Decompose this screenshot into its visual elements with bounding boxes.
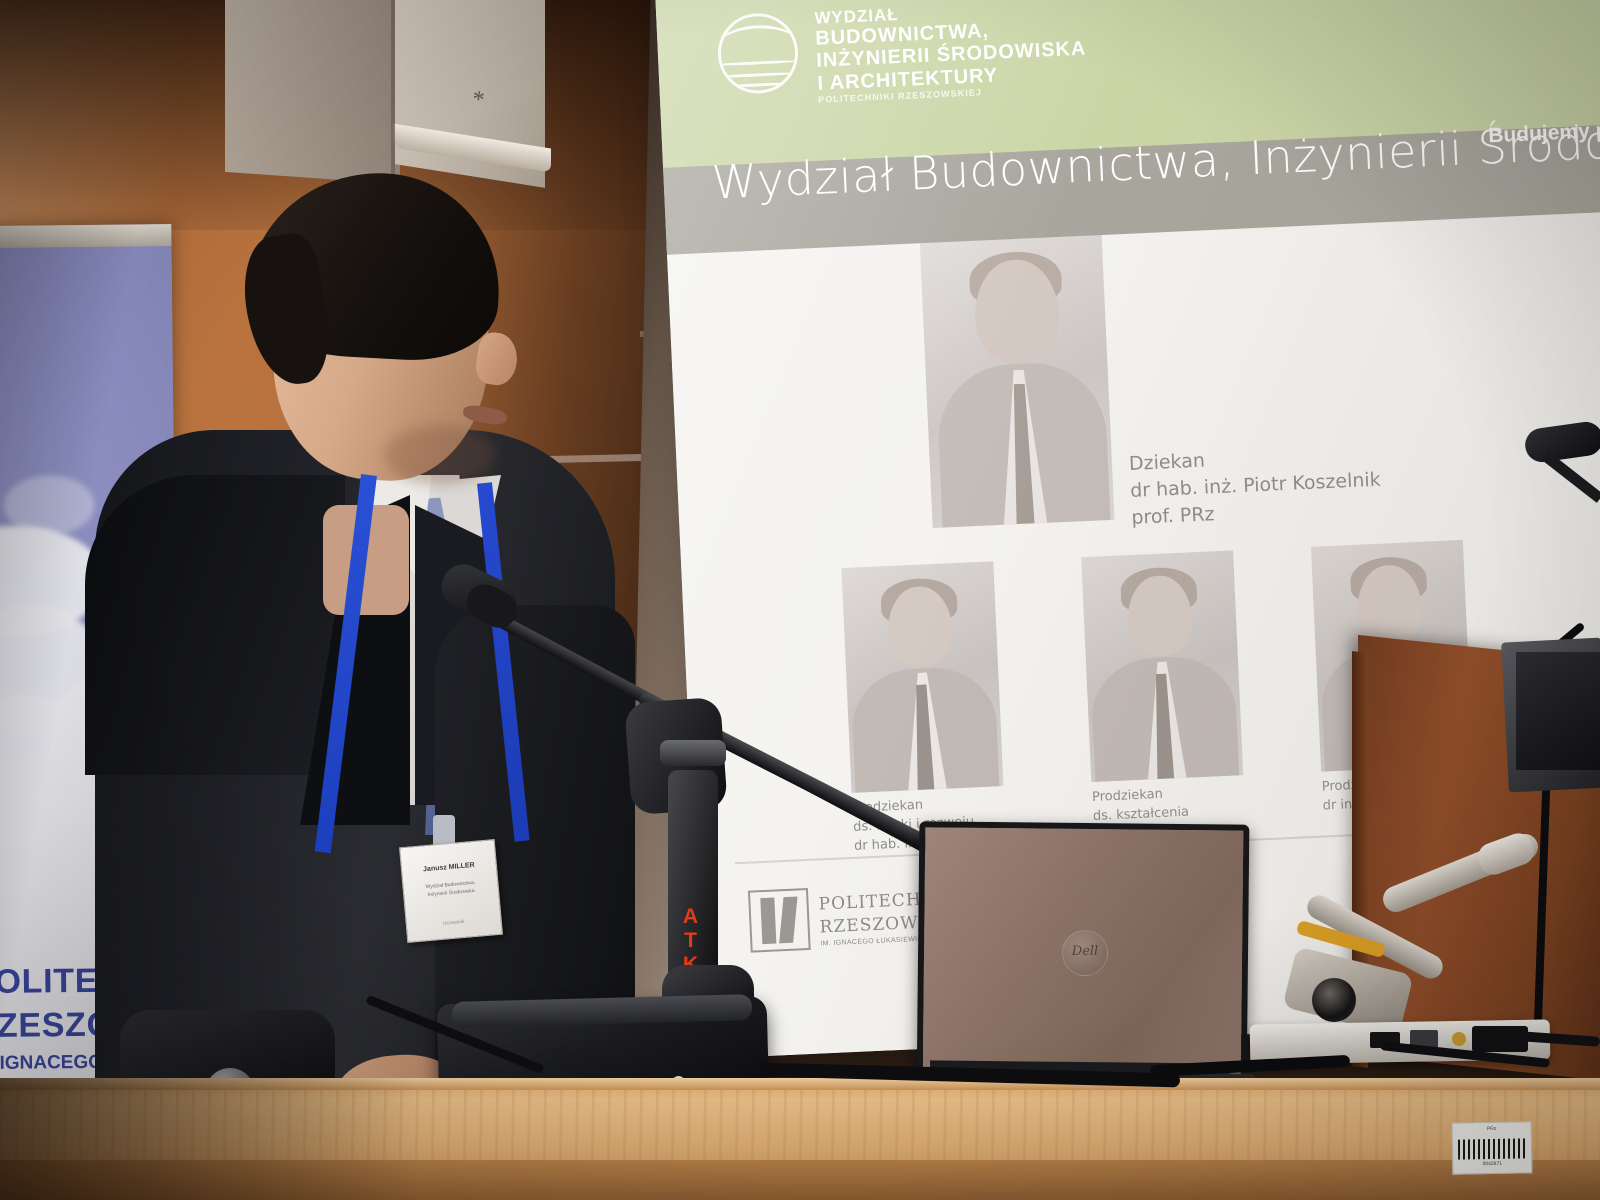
badge-name: Janusz MILLER bbox=[410, 861, 488, 875]
laptop-brand-label: Dell bbox=[1068, 944, 1102, 959]
vice-dean-1: Prodziekan ds. nauki i rozwoju dr hab. i… bbox=[841, 561, 1003, 793]
portrait-vice-dean-1 bbox=[841, 561, 1003, 793]
vice-dean-2-caption: Prodziekan ds. kształcenia bbox=[1092, 779, 1303, 826]
right-monitor-screen bbox=[1516, 652, 1600, 770]
slide-tagline: Budujemy p bbox=[1488, 119, 1600, 148]
badge-footer: Uczestnik bbox=[415, 916, 493, 929]
portrait-dean bbox=[919, 228, 1114, 528]
presenter-chin-shadow bbox=[385, 425, 495, 485]
desk-shadow-left bbox=[0, 1078, 420, 1200]
camera-lens-icon bbox=[1312, 978, 1356, 1022]
portrait-vice-dean-2 bbox=[1081, 550, 1243, 782]
inventory-barcode-sticker: PRz 0042871 bbox=[1452, 1121, 1533, 1174]
speaker-body bbox=[225, 0, 400, 184]
inventory-tag-number: 0042871 bbox=[1457, 1160, 1527, 1167]
presenter-shoulder bbox=[85, 475, 345, 775]
dean-caption: Dziekan dr hab. inż. Piotr Koszelnik pro… bbox=[1128, 440, 1382, 532]
faculty-logo-text: WYDZIAŁ BUDOWNICTWA, INŻYNIERII ŚRODOWIS… bbox=[814, 0, 1088, 105]
wall-mounted-speaker: ⃰⃰ bbox=[225, 0, 560, 188]
name-badge: Janusz MILLER Wydział Budownictwa, Inżyn… bbox=[399, 839, 503, 943]
visualizer-port-rca[interactable] bbox=[1452, 1032, 1466, 1046]
przrz-logo-mark bbox=[748, 888, 811, 953]
presenter-nose bbox=[474, 330, 521, 387]
barcode-bars-icon bbox=[1458, 1138, 1526, 1159]
badge-org: Wydział Budownictwa, Inżynierii Środowis… bbox=[411, 879, 490, 901]
inventory-tag-label: PRz bbox=[1457, 1125, 1527, 1132]
lecture-hall-scene: Dziekan dr hab. inż. Piotr Koszelnik pro… bbox=[0, 0, 1600, 1200]
microphone-collar[interactable] bbox=[660, 740, 726, 766]
visualizer-cable-plug bbox=[1472, 1026, 1528, 1052]
speaker-seam bbox=[391, 0, 395, 174]
vice-dean-2: Prodziekan ds. kształcenia bbox=[1081, 550, 1243, 782]
